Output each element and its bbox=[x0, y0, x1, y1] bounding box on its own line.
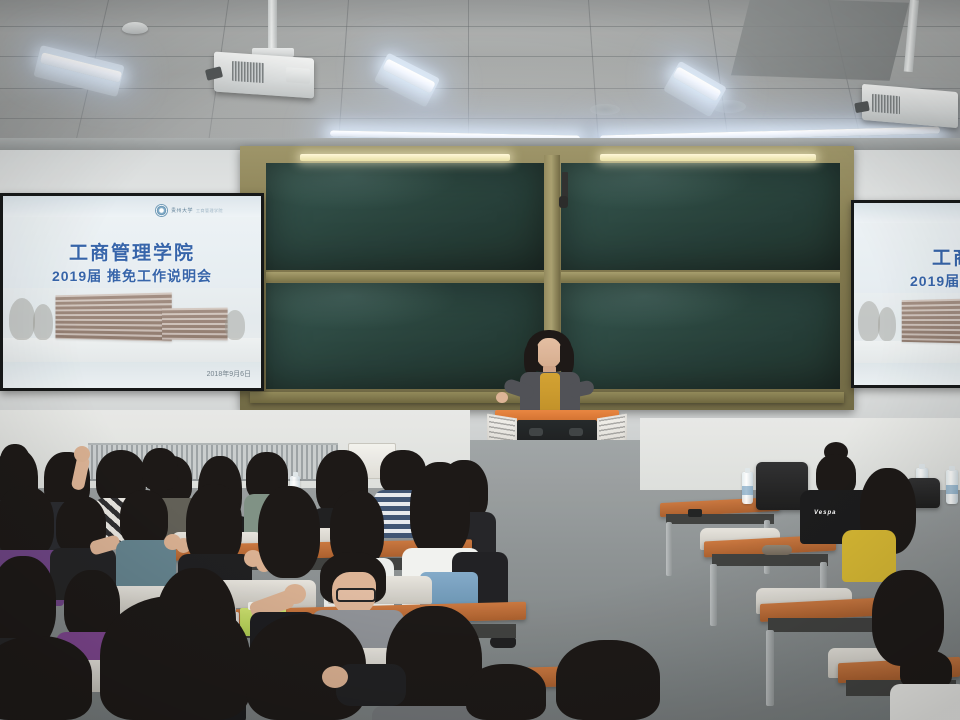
student-torso-yellow bbox=[842, 530, 896, 582]
smoke-detector bbox=[122, 22, 148, 34]
blackboard-light-right bbox=[600, 154, 816, 161]
photo-tree-3 bbox=[225, 310, 245, 340]
right-projection-screen[interactable]: 工商管理学院 2019届 推免工作说明会 bbox=[851, 200, 960, 388]
student-hair bbox=[120, 490, 168, 546]
student-hair-long bbox=[100, 596, 250, 720]
blackboard-light-left bbox=[300, 154, 510, 161]
presenter-hand-left bbox=[496, 392, 508, 403]
student-hair-long bbox=[258, 486, 320, 578]
logo-school-name: 工商管理学院 bbox=[196, 208, 223, 214]
student-hand bbox=[284, 584, 306, 604]
blackboard-divider-horizontal-right bbox=[561, 272, 840, 281]
slide-title: 工商管理学院 bbox=[3, 238, 261, 265]
air-vent-panel bbox=[731, 0, 909, 81]
student-hand bbox=[322, 666, 348, 688]
slide-logo: 贵州大学 工商管理学院 bbox=[155, 204, 223, 217]
photo-tree-right-2 bbox=[878, 307, 896, 341]
slide-header-bar-right bbox=[854, 203, 960, 223]
ceiling-air-diffuser-2 bbox=[590, 104, 620, 115]
wall-hook-weight bbox=[559, 196, 568, 208]
photo-building-main bbox=[55, 292, 171, 341]
desk-leg bbox=[766, 630, 774, 706]
glasses-icon bbox=[336, 588, 376, 602]
photo-tree-1 bbox=[9, 298, 35, 340]
student-hair bbox=[466, 664, 546, 720]
lectern-knob-right[interactable] bbox=[569, 428, 583, 436]
tshirt-graphic-text: Vespa bbox=[814, 510, 836, 516]
left-projection-screen[interactable]: 贵州大学 工商管理学院 工商管理学院 2019届 推免工作说明会 2018年9月… bbox=[0, 193, 264, 391]
blackboard-panel-top-right bbox=[561, 163, 840, 270]
projector-mount-pole-left bbox=[268, 0, 277, 52]
student-hair bbox=[0, 636, 92, 720]
student-hair bbox=[556, 640, 660, 720]
logo-university-name: 贵州大学 bbox=[171, 207, 193, 214]
slide-campus-photo bbox=[3, 288, 261, 362]
lectern-knob-left[interactable] bbox=[529, 428, 543, 436]
blackboard-divider-horizontal-left bbox=[266, 272, 544, 281]
projector-front-panel-left bbox=[286, 67, 310, 84]
water-bottle[interactable] bbox=[742, 472, 753, 504]
ceiling bbox=[0, 0, 960, 150]
student-hair bbox=[0, 486, 54, 558]
projector-vent-grille-left bbox=[232, 61, 264, 83]
slide-date: 2018年9月6日 bbox=[207, 369, 251, 379]
student-hair bbox=[142, 448, 178, 490]
desk-leg bbox=[710, 564, 717, 626]
blackboard-panel-top-left bbox=[266, 163, 544, 270]
photo-building-right bbox=[902, 298, 960, 345]
university-emblem-icon bbox=[155, 204, 168, 217]
lecture-hall-photo: 贵州大学 工商管理学院 工商管理学院 2019届 推免工作说明会 2018年9月… bbox=[0, 0, 960, 720]
desk-shelf bbox=[666, 514, 774, 524]
slide-footer-bar-right bbox=[854, 363, 960, 385]
student-hand bbox=[74, 446, 90, 462]
student-hair-long bbox=[410, 462, 470, 558]
pencil-case[interactable] bbox=[762, 545, 792, 555]
photo-building-second bbox=[162, 308, 228, 341]
photo-tree-2 bbox=[33, 304, 53, 340]
mobile-phone[interactable] bbox=[688, 509, 702, 517]
student-hair bbox=[0, 444, 30, 480]
slide-campus-photo-right bbox=[854, 293, 960, 363]
student-torso-white bbox=[890, 684, 960, 720]
slide-title-right: 工商管理学院 bbox=[854, 243, 960, 270]
student-sleeve-dark bbox=[336, 664, 406, 706]
water-bottle[interactable] bbox=[946, 470, 958, 504]
photo-tree-right-1 bbox=[858, 301, 880, 341]
desk-shelf bbox=[712, 554, 828, 566]
projector-vent-grille-right bbox=[872, 94, 900, 114]
presenter-face bbox=[536, 338, 562, 368]
slide-subtitle: 2019届 推免工作说明会 bbox=[3, 266, 261, 286]
desk-leg bbox=[666, 522, 672, 576]
